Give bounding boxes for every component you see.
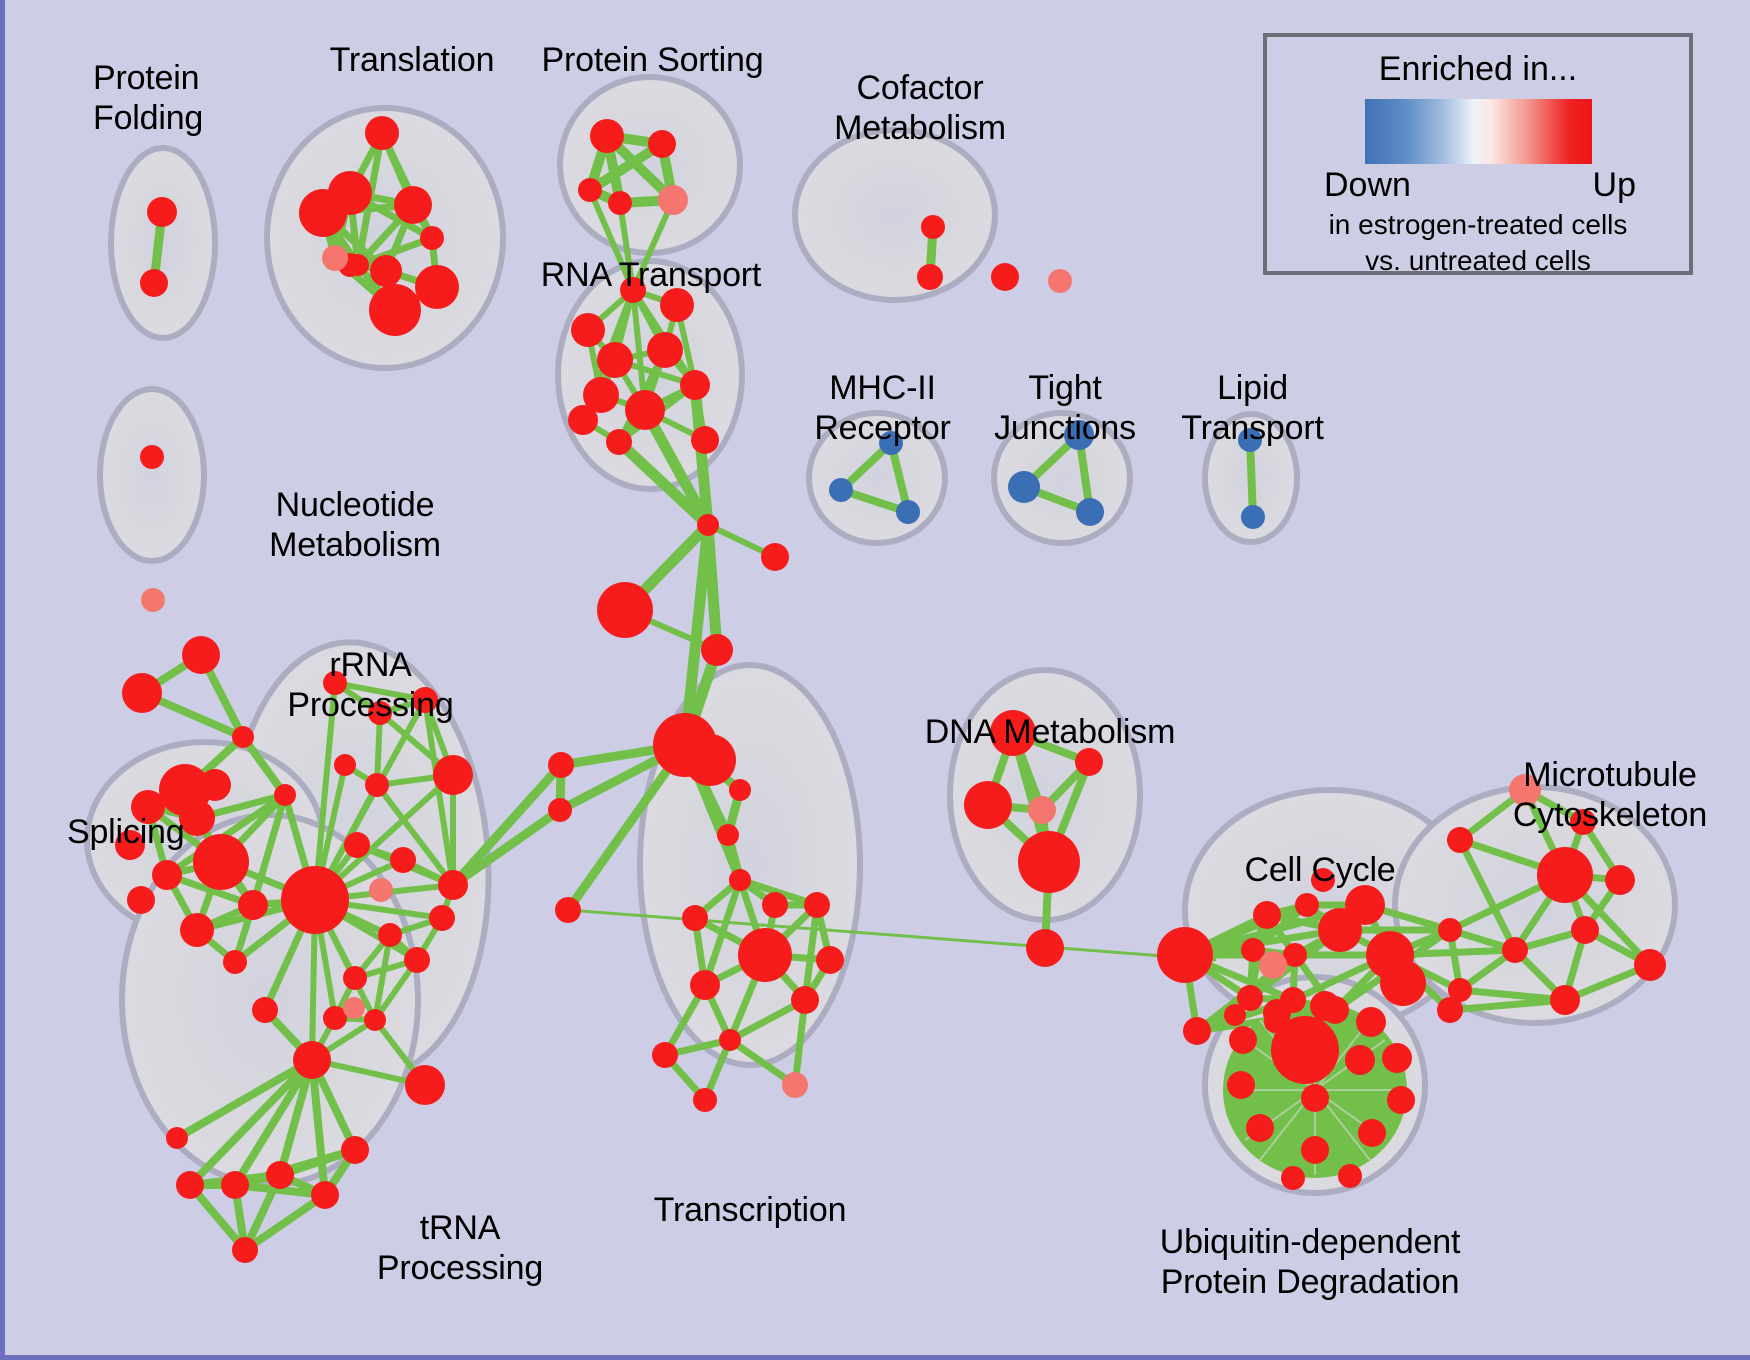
cluster-label-cofactor-metabolism: CofactorMetabolism: [805, 68, 1035, 148]
legend-panel: Enriched in... Down Up in estrogen-treat…: [1263, 33, 1693, 275]
cluster-label-dna-metabolism: DNA Metabolism: [910, 712, 1190, 752]
cluster-bubble-cofactor-metabolism: [795, 130, 995, 300]
legend-caption-line-1: in estrogen-treated cells: [1267, 208, 1689, 242]
cluster-bubble-nucleotide-metabolism: [100, 389, 204, 561]
cluster-label-lipid-transport: LipidTransport: [1160, 368, 1345, 448]
legend-color-gradient-bar: [1365, 99, 1592, 164]
legend-down-label: Down: [1324, 166, 1411, 205]
cluster-label-tight-junctions: TightJunctions: [980, 368, 1150, 448]
cluster-label-microtubule-cytoskeleton: MicrotubuleCytoskeleton: [1460, 755, 1750, 835]
cluster-label-splicing: Splicing: [67, 812, 242, 852]
nodes-splicing-satellites: [122, 636, 254, 748]
cluster-label-mhc-ii-receptor: MHC-IIReceptor: [790, 368, 975, 448]
cluster-label-rrna-processing: rRNAProcessing: [263, 645, 478, 725]
cluster-label-protein-sorting: Protein Sorting: [515, 40, 790, 80]
legend-title: Enriched in...: [1267, 50, 1689, 89]
legend-endpoints: Down Up: [1328, 166, 1628, 206]
cluster-label-cell-cycle: Cell Cycle: [1220, 850, 1420, 890]
cluster-label-trna-processing: tRNAProcessing: [350, 1208, 570, 1288]
network-figure: ProteinFolding Translation Protein Sorti…: [0, 0, 1750, 1360]
cluster-label-ubiquitin-protein-degradation: Ubiquitin-dependentProtein Degradation: [1110, 1222, 1510, 1302]
cluster-label-rna-transport: RNA Transport: [520, 255, 782, 295]
cluster-bubble-protein-sorting: [560, 77, 740, 253]
legend-caption-line-2: vs. untreated cells: [1267, 244, 1689, 278]
cluster-label-nucleotide-metabolism: NucleotideMetabolism: [230, 485, 480, 565]
cluster-label-protein-folding: ProteinFolding: [93, 58, 273, 138]
cluster-label-transcription: Transcription: [625, 1190, 875, 1230]
legend-up-label: Up: [1593, 166, 1636, 205]
cluster-label-translation: Translation: [297, 40, 527, 80]
